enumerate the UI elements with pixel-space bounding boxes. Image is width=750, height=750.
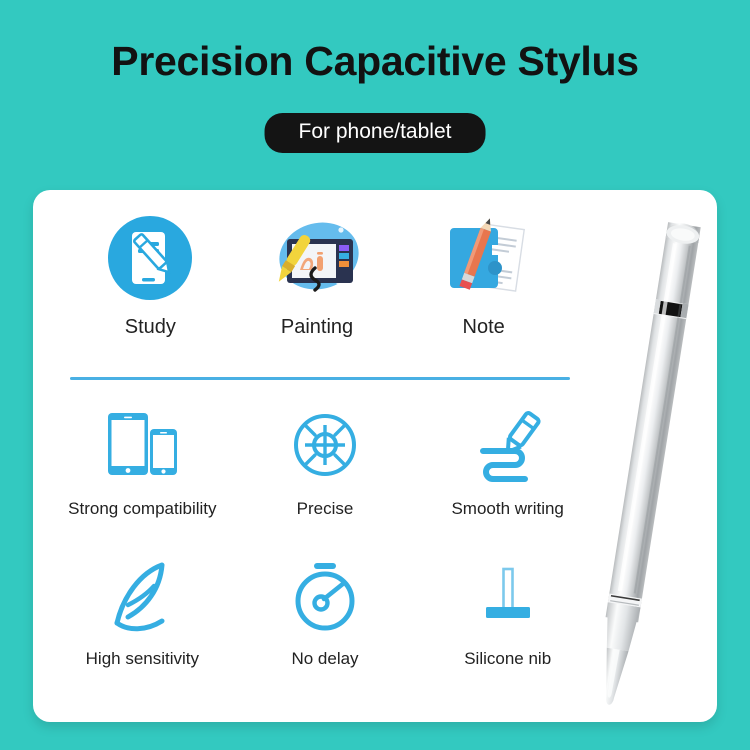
page-title: Precision Capacitive Stylus (0, 38, 750, 85)
feature-grid: Strong compatibility Precise (51, 405, 599, 705)
feature-label: Precise (297, 499, 354, 519)
use-case-row: Study (67, 212, 567, 354)
use-case-note[interactable]: Note (400, 212, 567, 354)
feature-row: Strong compatibility Precise (51, 405, 599, 555)
feature-card: Study (33, 190, 717, 722)
feature-no-delay[interactable]: No delay (234, 555, 417, 705)
stylus-product-image (581, 200, 717, 715)
use-case-label: Note (463, 316, 505, 339)
crosshair-target-icon (277, 405, 373, 489)
stopwatch-icon (277, 555, 373, 639)
feature-silicone-nib[interactable]: Silicone nib (416, 555, 599, 705)
feather-quill-icon (94, 555, 190, 639)
compatibility-badge: For phone/tablet (265, 113, 486, 153)
section-divider (70, 377, 570, 380)
feature-label: Silicone nib (464, 649, 551, 669)
feature-label: Strong compatibility (68, 499, 216, 519)
feature-smooth-writing[interactable]: Smooth writing (416, 405, 599, 555)
use-case-label: Study (125, 316, 176, 339)
header-banner: Precision Capacitive Stylus For phone/ta… (0, 0, 750, 190)
use-case-label: Painting (281, 316, 353, 339)
phone-pencil-circle-icon (104, 212, 196, 304)
feature-strong-compatibility[interactable]: Strong compatibility (51, 405, 234, 555)
pencil-curve-icon (460, 405, 556, 489)
drawing-tablet-brush-icon (271, 212, 363, 304)
feature-label: Smooth writing (451, 499, 563, 519)
feature-label: No delay (291, 649, 358, 669)
feature-high-sensitivity[interactable]: High sensitivity (51, 555, 234, 705)
notebook-pencil-icon (438, 212, 530, 304)
feature-row: High sensitivity No delay (51, 555, 599, 705)
tablet-phone-icon (94, 405, 190, 489)
use-case-painting[interactable]: Painting (234, 212, 401, 354)
feature-label: High sensitivity (86, 649, 199, 669)
feature-precise[interactable]: Precise (234, 405, 417, 555)
use-case-study[interactable]: Study (67, 212, 234, 354)
nib-tip-icon (460, 555, 556, 639)
